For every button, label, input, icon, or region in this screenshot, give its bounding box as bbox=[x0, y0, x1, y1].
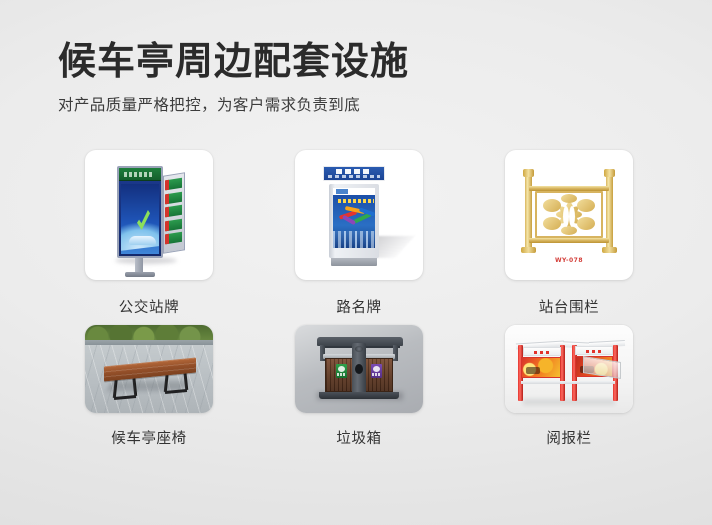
product-label-trash-bin: 垃圾箱 bbox=[336, 427, 381, 448]
page-header: 候车亭周边配套设施 对产品质量严格把控，为客户需求负责到底 bbox=[58, 40, 658, 115]
sign-poster bbox=[121, 184, 159, 254]
product-card-bus-stop-sign[interactable] bbox=[85, 150, 213, 280]
railing-bottom-bar bbox=[529, 238, 609, 243]
street-nameplate bbox=[323, 166, 385, 181]
product-card-street-name-sign[interactable] bbox=[295, 150, 423, 280]
sign-base bbox=[125, 272, 155, 277]
platform-railing-image: WY-078 bbox=[505, 150, 633, 280]
ashtray-icon bbox=[355, 346, 363, 352]
product-card-platform-railing[interactable]: WY-078 bbox=[505, 150, 633, 280]
bin-base bbox=[319, 392, 399, 399]
non-recyclable-label-icon bbox=[371, 364, 382, 378]
cigarette-hole bbox=[355, 364, 363, 374]
recyclable-label-icon bbox=[336, 364, 347, 378]
schedule-row bbox=[166, 218, 182, 231]
board-title-bar bbox=[575, 346, 613, 355]
schedule-row bbox=[166, 178, 182, 191]
nameplate-chinese-text bbox=[336, 169, 372, 174]
railing-scrollwork bbox=[537, 193, 601, 236]
product-row-2: 候车亭座椅 bbox=[0, 325, 712, 448]
board-poster-left bbox=[521, 357, 561, 378]
poster-figure bbox=[526, 367, 540, 374]
product-watermark: WY-078 bbox=[505, 257, 633, 264]
sign-lightbox bbox=[117, 166, 163, 258]
product-card-news-board[interactable] bbox=[505, 325, 633, 413]
product-label-shelter-bench: 候车亭座椅 bbox=[111, 427, 187, 448]
product-cell-platform-railing[interactable]: WY-078 站台围栏 bbox=[505, 150, 633, 317]
bus-stop-sign-image bbox=[85, 150, 213, 280]
product-cell-shelter-bench[interactable]: 候车亭座椅 bbox=[85, 325, 213, 448]
product-cell-trash-bin[interactable]: 垃圾箱 bbox=[295, 325, 423, 448]
board-title-bar bbox=[523, 347, 561, 356]
schedule-row bbox=[166, 205, 182, 218]
product-card-shelter-bench[interactable] bbox=[85, 325, 213, 413]
product-row-1: 公交站牌 bbox=[0, 150, 712, 317]
product-label-bus-stop-sign: 公交站牌 bbox=[119, 296, 179, 317]
product-card-trash-bin[interactable] bbox=[295, 325, 423, 413]
sign-header-band bbox=[119, 168, 161, 181]
board-shadow bbox=[523, 399, 615, 405]
sign-footing bbox=[331, 257, 377, 266]
side-schedule-panel bbox=[163, 172, 185, 253]
product-cell-bus-stop-sign[interactable]: 公交站牌 bbox=[85, 150, 213, 317]
poster-headline bbox=[338, 199, 374, 203]
advertising-poster bbox=[333, 188, 375, 248]
railing-ornament-frame bbox=[535, 191, 603, 238]
news-board-image bbox=[505, 325, 633, 413]
street-name-sign-image bbox=[295, 150, 423, 280]
poster-ribbon-graphic bbox=[339, 205, 375, 225]
product-label-street-name-sign: 路名牌 bbox=[336, 296, 381, 317]
board-cross-beam bbox=[521, 381, 615, 384]
schedule-row bbox=[166, 191, 182, 204]
poster-skyline bbox=[333, 231, 375, 248]
page-title: 候车亭周边配套设施 bbox=[58, 40, 658, 84]
product-cell-street-name-sign[interactable]: 路名牌 bbox=[295, 150, 423, 317]
product-label-platform-railing: 站台围栏 bbox=[539, 296, 599, 317]
product-showcase-page: 候车亭周边配套设施 对产品质量严格把控，为客户需求负责到底 bbox=[0, 0, 712, 525]
poster-vehicle bbox=[129, 236, 156, 245]
poster-logo bbox=[336, 189, 348, 194]
product-grid: 公交站牌 bbox=[0, 150, 712, 448]
nameplate-pinyin-text bbox=[328, 175, 380, 178]
product-label-news-board: 阅报栏 bbox=[546, 427, 591, 448]
sign-cabinet bbox=[329, 184, 379, 258]
shelter-bench-image bbox=[85, 325, 213, 413]
schedule-row bbox=[166, 232, 182, 245]
product-cell-news-board[interactable]: 阅报栏 bbox=[505, 325, 633, 448]
trash-bin-image bbox=[295, 325, 423, 413]
page-subtitle: 对产品质量严格把控，为客户需求负责到底 bbox=[58, 95, 658, 115]
shadow-ellipse bbox=[115, 257, 177, 264]
